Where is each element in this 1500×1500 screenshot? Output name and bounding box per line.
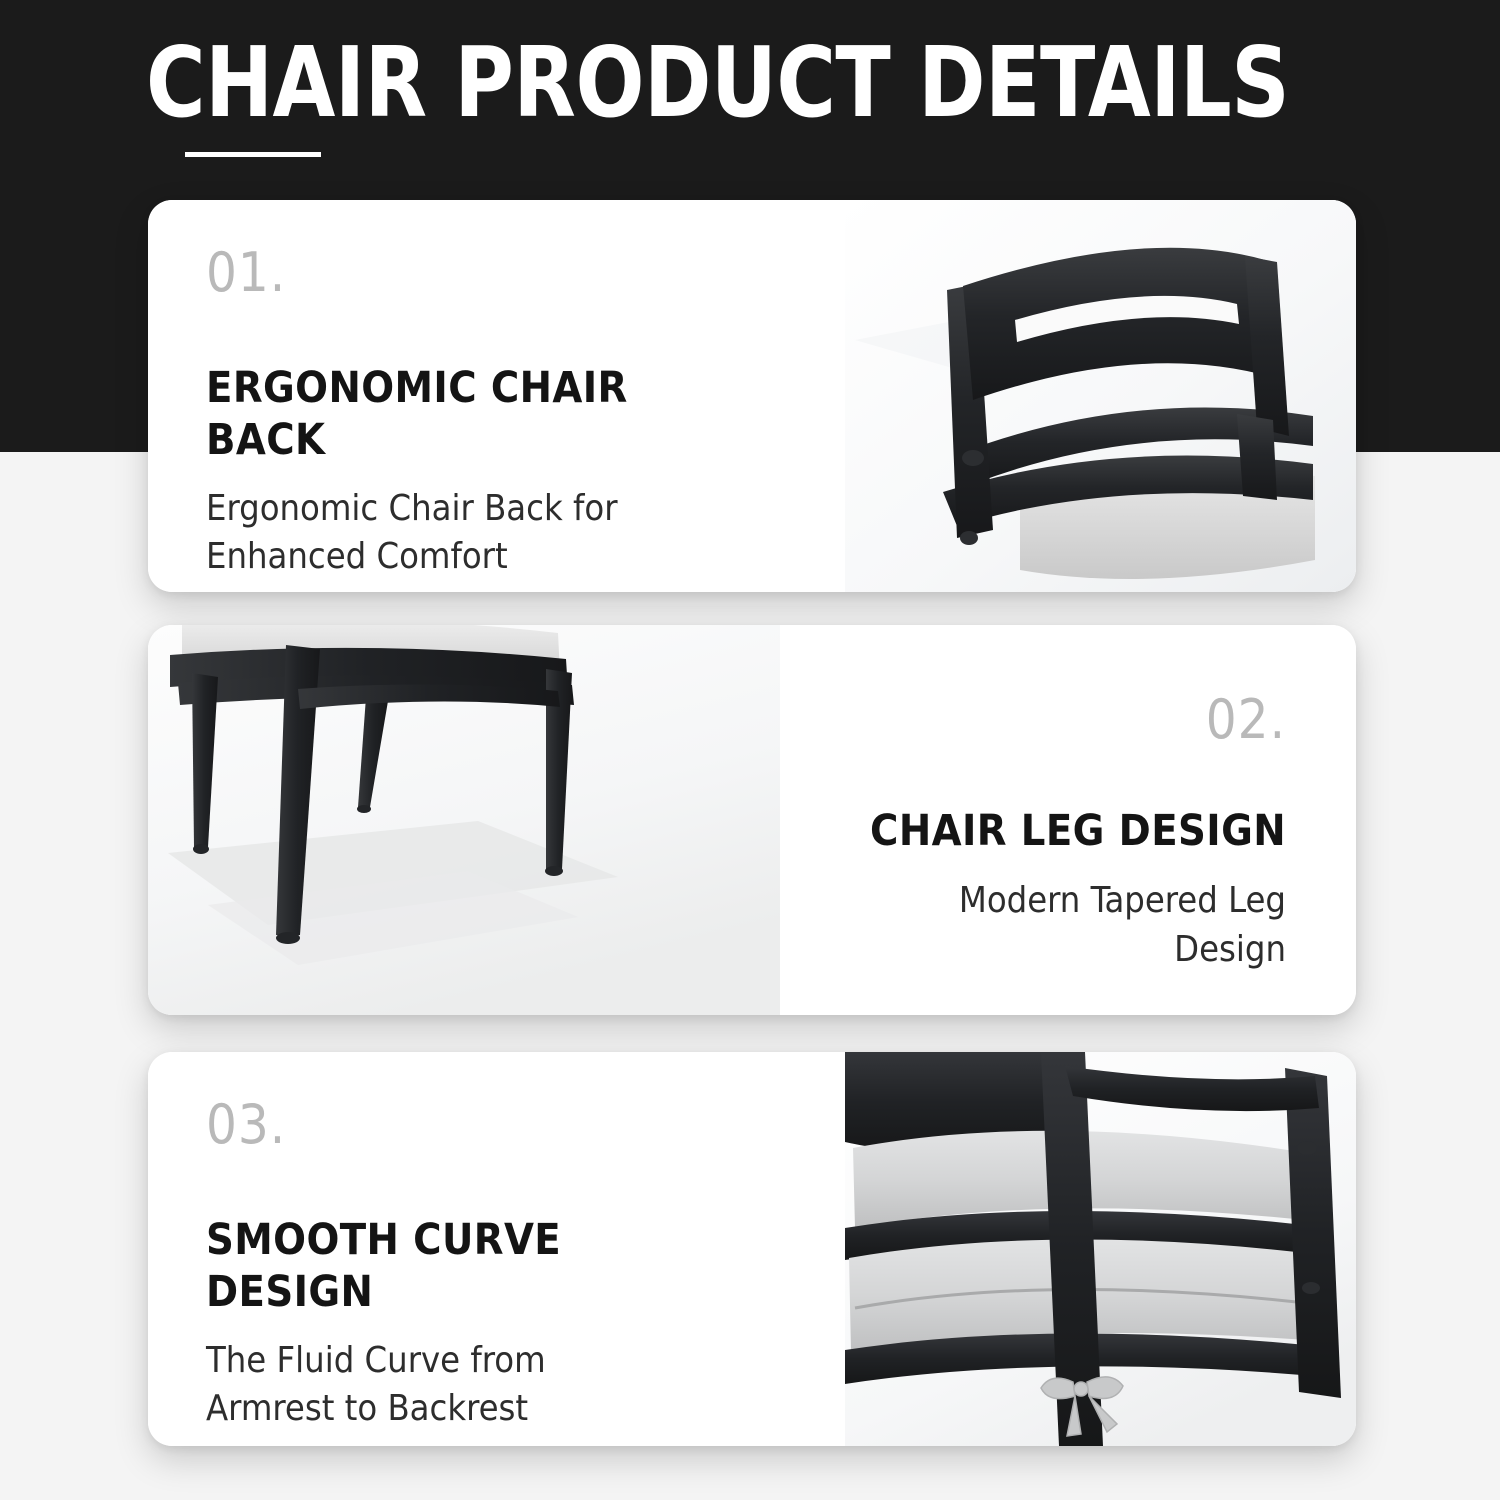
card-text-pane: 01. ERGONOMIC CHAIR BACK Ergonomic Chair…	[148, 200, 845, 592]
card-description: The Fluid Curve from Armrest to Backrest	[206, 1337, 636, 1433]
card-heading: SMOOTH CURVE DESIGN	[206, 1214, 636, 1319]
card-text-pane: 03. SMOOTH CURVE DESIGN The Fluid Curve …	[148, 1052, 845, 1446]
page-title: CHAIR PRODUCT DETAILS	[146, 34, 1289, 131]
chair-backrest-photo	[845, 200, 1356, 592]
card-number: 02.	[1206, 693, 1286, 747]
detail-card-smooth-curve-design[interactable]: 03. SMOOTH CURVE DESIGN The Fluid Curve …	[148, 1052, 1356, 1446]
chair-legs-photo	[148, 625, 780, 1015]
card-description: Modern Tapered Leg Design	[856, 877, 1286, 973]
card-heading: CHAIR LEG DESIGN	[870, 805, 1286, 857]
card-number: 03.	[206, 1098, 286, 1152]
armrest-curve-photo	[845, 1052, 1356, 1446]
detail-card-ergonomic-chair-back[interactable]: 01. ERGONOMIC CHAIR BACK Ergonomic Chair…	[148, 200, 1356, 592]
card-description: Ergonomic Chair Back for Enhanced Comfor…	[206, 485, 636, 581]
detail-card-chair-leg-design[interactable]: 02. CHAIR LEG DESIGN Modern Tapered Leg …	[148, 625, 1356, 1015]
title-accent-rule	[185, 152, 321, 157]
card-heading: ERGONOMIC CHAIR BACK	[206, 362, 636, 467]
card-number: 01.	[206, 246, 286, 300]
card-text-pane: 02. CHAIR LEG DESIGN Modern Tapered Leg …	[780, 625, 1356, 1015]
